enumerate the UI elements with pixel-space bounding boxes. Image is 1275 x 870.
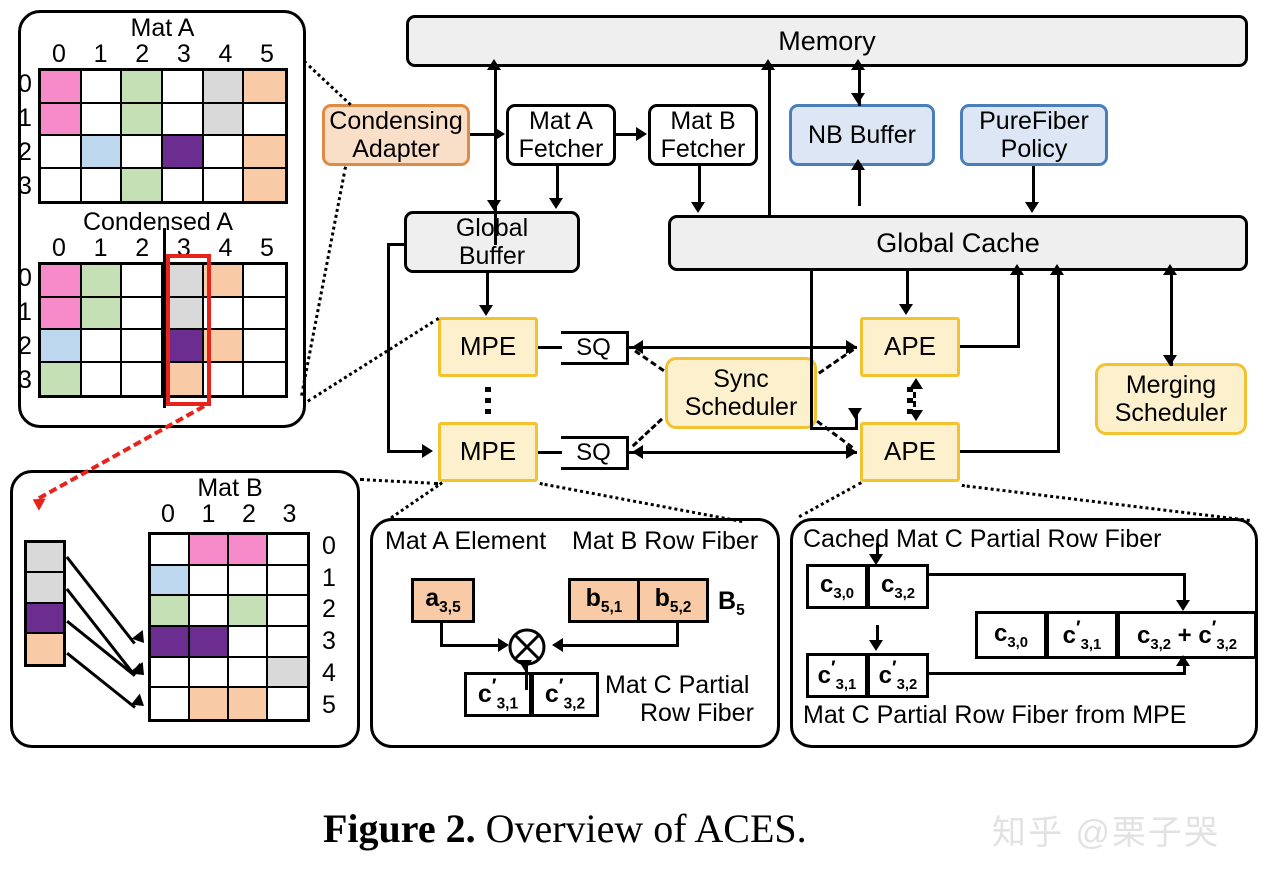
connector-line bbox=[440, 644, 502, 647]
matrix-cell bbox=[244, 71, 285, 104]
axis-label: 4 bbox=[318, 659, 340, 688]
ape-bottom-label: APE bbox=[884, 437, 936, 466]
arrow-head bbox=[487, 200, 501, 211]
axis-label: 3 bbox=[174, 40, 194, 69]
axis-label: 2 bbox=[318, 595, 340, 624]
sq-bottom-block[interactable]: SQ bbox=[561, 436, 629, 470]
matrix-cell bbox=[41, 71, 82, 104]
ape-top-block[interactable]: APE bbox=[860, 317, 960, 377]
arrow-head bbox=[851, 159, 865, 170]
purefiber-policy-block[interactable]: PureFiber Policy bbox=[960, 104, 1108, 166]
mpe-top-label: MPE bbox=[460, 332, 516, 361]
matrix-cell bbox=[163, 169, 204, 202]
axis-label: 1 bbox=[14, 298, 36, 327]
connector-line bbox=[960, 450, 1060, 453]
axis-label: 5 bbox=[257, 40, 277, 69]
connector-line bbox=[360, 478, 438, 485]
axis-label: 3 bbox=[14, 172, 36, 201]
connector-line bbox=[539, 482, 742, 523]
connector-line bbox=[1170, 271, 1173, 366]
connector-line bbox=[632, 418, 663, 447]
vector-fiber-cell bbox=[27, 543, 63, 573]
matrix-cell bbox=[122, 169, 163, 202]
matrix-cell bbox=[163, 136, 204, 169]
mat-b-grid bbox=[148, 532, 310, 722]
connector-line bbox=[494, 70, 497, 245]
matrix-cell bbox=[268, 658, 307, 689]
matrix-cell bbox=[151, 596, 190, 627]
mpe-bottom-block[interactable]: MPE bbox=[438, 422, 538, 482]
axis-label: 4 bbox=[215, 40, 235, 69]
mat-a-fetcher-label-1: Mat A bbox=[529, 107, 593, 135]
connector-line bbox=[629, 451, 857, 454]
matrix-cell bbox=[41, 104, 82, 137]
connector-line bbox=[698, 166, 701, 206]
connector-line bbox=[799, 481, 862, 518]
axis-label: 2 bbox=[14, 332, 36, 361]
axis-label: 2 bbox=[132, 40, 152, 69]
matrix-cell bbox=[244, 363, 285, 396]
axis-label: 1 bbox=[199, 500, 219, 529]
nb-buffer-block[interactable]: NB Buffer bbox=[789, 104, 935, 166]
arrow-head bbox=[851, 93, 865, 104]
matrix-cell bbox=[204, 104, 245, 137]
connector-line bbox=[818, 348, 855, 374]
connector-line bbox=[616, 133, 637, 136]
ape-top-label: APE bbox=[884, 332, 936, 361]
global-buffer-label-1: Global bbox=[456, 214, 528, 242]
global-buffer-block[interactable]: Global Buffer bbox=[404, 211, 580, 273]
matrix-cell bbox=[82, 136, 123, 169]
arrow-head bbox=[479, 305, 493, 316]
matrix-cell bbox=[41, 169, 82, 202]
connector-line bbox=[538, 346, 562, 349]
arrow-head bbox=[1176, 655, 1190, 666]
connector-line bbox=[529, 672, 532, 717]
sq-top-label: SQ bbox=[576, 334, 611, 362]
matrix-cell bbox=[244, 298, 285, 331]
connector-line bbox=[906, 271, 909, 307]
matrix-cell bbox=[204, 169, 245, 202]
mat-b-fetcher-label-2: Fetcher bbox=[661, 135, 746, 163]
sync-scheduler-label-1: Sync bbox=[713, 365, 769, 393]
ape-bottom-block[interactable]: APE bbox=[860, 422, 960, 482]
result-fiber-cell-1: c′3,1 bbox=[1046, 611, 1118, 659]
matrix-cell bbox=[190, 566, 229, 597]
arrow-head bbox=[909, 410, 923, 421]
matrix-cell bbox=[122, 265, 163, 298]
connector-line bbox=[300, 166, 347, 396]
matrix-cell bbox=[229, 658, 268, 689]
merging-scheduler-label-1: Merging bbox=[1126, 371, 1216, 399]
mat-c-partial-cell-1: c′3,2 bbox=[531, 672, 599, 717]
matrix-cell bbox=[122, 363, 163, 396]
mat-b-fiber-cell-0: b5,1 bbox=[568, 578, 640, 623]
connector-line bbox=[816, 420, 853, 448]
mat-a-fetcher-block[interactable]: Mat A Fetcher bbox=[506, 104, 616, 166]
sync-scheduler-label-2: Scheduler bbox=[685, 393, 798, 421]
axis-label: 0 bbox=[14, 264, 36, 293]
connector-line bbox=[1017, 271, 1020, 348]
arrow-head bbox=[549, 198, 563, 209]
mat-a-title: Mat A bbox=[40, 14, 285, 43]
memory-label: Memory bbox=[778, 26, 876, 56]
matrix-cell bbox=[190, 658, 229, 689]
matrix-cell bbox=[41, 265, 82, 298]
mat-a-fetcher-label-2: Fetcher bbox=[519, 135, 604, 163]
mpe-fiber-cell-0: c′3,1 bbox=[806, 653, 868, 698]
connector-line bbox=[307, 317, 440, 403]
matrix-cell bbox=[163, 104, 204, 137]
matrix-cell bbox=[151, 566, 190, 597]
matrix-cell bbox=[82, 265, 123, 298]
axis-label: 3 bbox=[14, 366, 36, 395]
connector-line bbox=[303, 60, 352, 106]
matrix-cell bbox=[268, 596, 307, 627]
axis-label: 2 bbox=[239, 500, 259, 529]
mat-a-element-cell: a3,5 bbox=[411, 578, 475, 623]
condensing-adapter-label-2: Adapter bbox=[352, 135, 440, 163]
matrix-cell bbox=[122, 104, 163, 137]
connector-line bbox=[390, 482, 443, 519]
sync-scheduler-block[interactable]: Sync Scheduler bbox=[665, 357, 817, 429]
matrix-cell bbox=[41, 298, 82, 331]
matrix-cell bbox=[82, 363, 123, 396]
matrix-cell bbox=[244, 169, 285, 202]
cached-fiber-cell-0: c3,0 bbox=[806, 564, 868, 609]
axis-label: 0 bbox=[158, 500, 178, 529]
axis-label: 0 bbox=[49, 234, 69, 263]
arrow-head bbox=[869, 640, 883, 651]
axis-label: 4 bbox=[215, 234, 235, 263]
mpe-ellipsis bbox=[485, 387, 491, 415]
cached-fiber-cell-1: c3,2 bbox=[867, 564, 929, 609]
connector-line bbox=[929, 672, 1186, 675]
matrix-cell bbox=[190, 535, 229, 566]
connector-line bbox=[929, 573, 1186, 576]
matrix-cell bbox=[268, 627, 307, 658]
connector-line bbox=[470, 133, 496, 136]
arrow-head bbox=[552, 638, 563, 652]
axis-label: 0 bbox=[49, 40, 69, 69]
connector-line bbox=[1183, 573, 1186, 603]
matrix-cell bbox=[229, 535, 268, 566]
mat-b-fiber-cell-1: b5,2 bbox=[637, 578, 709, 623]
mat-b-title: Mat B bbox=[140, 474, 320, 503]
arrow-head bbox=[1025, 202, 1039, 213]
arrow-head bbox=[487, 59, 501, 70]
arrow-head bbox=[1010, 264, 1024, 275]
condensed-a-highlight-box bbox=[166, 254, 211, 406]
arrow-head bbox=[851, 59, 865, 70]
matrix-cell bbox=[41, 363, 82, 396]
vector-fiber-cell bbox=[27, 634, 63, 664]
merging-scheduler-label-2: Scheduler bbox=[1115, 399, 1228, 427]
condensed-a-title: Condensed A bbox=[28, 208, 288, 237]
mpe-detail-label-b: Mat B Row Fiber bbox=[572, 528, 758, 556]
matrix-cell bbox=[244, 104, 285, 137]
figure-caption-rest: Overview of ACES. bbox=[476, 806, 807, 851]
connector-line bbox=[858, 166, 861, 206]
axis-label: 5 bbox=[318, 691, 340, 720]
condensing-adapter-label-1: Condensing bbox=[329, 107, 462, 135]
connector-line bbox=[1057, 271, 1060, 453]
matrix-cell bbox=[229, 566, 268, 597]
matrix-cell bbox=[151, 627, 190, 658]
arrow-head bbox=[1176, 600, 1190, 611]
matrix-cell bbox=[268, 566, 307, 597]
connector-line bbox=[810, 427, 858, 430]
matrix-cell bbox=[244, 330, 285, 363]
axis-label: 0 bbox=[14, 70, 36, 99]
axis-label: 1 bbox=[318, 564, 340, 593]
mat-b-fiber-group-label: B5 bbox=[718, 588, 745, 619]
mpe-top-block[interactable]: MPE bbox=[438, 317, 538, 377]
matrix-cell bbox=[268, 535, 307, 566]
matrix-cell bbox=[190, 688, 229, 719]
axis-label: 1 bbox=[91, 234, 111, 263]
arrow-head bbox=[1163, 264, 1177, 275]
matrix-cell bbox=[151, 688, 190, 719]
merging-scheduler-block[interactable]: Merging Scheduler bbox=[1095, 363, 1247, 435]
axis-label: 3 bbox=[318, 627, 340, 656]
global-buffer-label-2: Buffer bbox=[459, 242, 525, 270]
matrix-cell bbox=[244, 136, 285, 169]
matrix-cell bbox=[190, 627, 229, 658]
axis-label: 2 bbox=[14, 138, 36, 167]
ape-detail-label-bottom: Mat C Partial Row Fiber from MPE bbox=[803, 702, 1186, 730]
connector-line bbox=[629, 346, 857, 349]
arrow-head bbox=[761, 59, 775, 70]
matrix-cell bbox=[163, 71, 204, 104]
mpe-detail-label-c-1: Mat C Partial bbox=[605, 672, 749, 700]
matrix-cell bbox=[122, 136, 163, 169]
figure-caption: Figure 2. Overview of ACES. bbox=[323, 805, 807, 852]
result-fiber-cell-2: c3,2 + c′3,2 bbox=[1117, 611, 1257, 659]
matrix-cell bbox=[122, 298, 163, 331]
arrow-head bbox=[899, 304, 913, 315]
mpe-detail-label-a: Mat A Element bbox=[385, 528, 546, 556]
purefiber-policy-label-2: Policy bbox=[1001, 135, 1068, 163]
vector-fiber-cell bbox=[27, 573, 63, 603]
connector-line bbox=[960, 345, 1020, 348]
nb-buffer-label: NB Buffer bbox=[808, 121, 916, 149]
mpe-fiber-cell-1: c′3,2 bbox=[867, 653, 929, 698]
arrow-head bbox=[498, 638, 509, 652]
connector-line bbox=[556, 166, 559, 202]
connector-line bbox=[962, 484, 1250, 522]
arrow-head bbox=[518, 660, 532, 671]
figure-caption-bold: Figure 2. bbox=[323, 806, 476, 851]
matrix-cell bbox=[204, 71, 245, 104]
arrow-head bbox=[1050, 264, 1064, 275]
axis-label: 2 bbox=[132, 234, 152, 263]
sq-bottom-label: SQ bbox=[576, 439, 611, 467]
connector-line bbox=[556, 644, 678, 647]
axis-label: 1 bbox=[91, 40, 111, 69]
matrix-cell bbox=[229, 627, 268, 658]
watermark: 知乎 @栗子哭 bbox=[992, 805, 1220, 854]
matrix-cell bbox=[190, 596, 229, 627]
matrix-cell bbox=[41, 136, 82, 169]
axis-label: 3 bbox=[280, 500, 300, 529]
matrix-cell bbox=[82, 169, 123, 202]
sq-top-block[interactable]: SQ bbox=[561, 331, 629, 365]
connector-line bbox=[538, 451, 562, 454]
mat-b-fetcher-block[interactable]: Mat B Fetcher bbox=[648, 104, 758, 166]
mpe-detail-label-c-2: Row Fiber bbox=[640, 700, 754, 728]
global-cache-label: Global Cache bbox=[876, 228, 1040, 258]
axis-label: 1 bbox=[14, 104, 36, 133]
mat-b-fetcher-label-1: Mat B bbox=[670, 107, 735, 135]
arrow-head bbox=[1163, 355, 1177, 366]
matrix-cell bbox=[268, 688, 307, 719]
arrow-head bbox=[909, 378, 923, 389]
matrix-cell bbox=[82, 104, 123, 137]
arrow-head bbox=[636, 127, 647, 141]
matrix-cell bbox=[204, 136, 245, 169]
axis-label: 0 bbox=[318, 532, 340, 561]
memory-block[interactable]: Memory bbox=[406, 15, 1248, 67]
matrix-cell bbox=[122, 330, 163, 363]
mpe-bottom-label: MPE bbox=[460, 437, 516, 466]
purefiber-policy-label-1: PureFiber bbox=[979, 107, 1089, 135]
matrix-cell bbox=[229, 688, 268, 719]
connector-line bbox=[810, 271, 813, 427]
arrow-head bbox=[691, 202, 705, 213]
mat-c-partial-cell-0: c′3,1 bbox=[464, 672, 532, 717]
global-cache-block[interactable]: Global Cache bbox=[668, 215, 1248, 271]
matrix-cell bbox=[82, 71, 123, 104]
ape-detail-label-top: Cached Mat C Partial Row Fiber bbox=[803, 526, 1161, 554]
connector-line bbox=[387, 450, 427, 453]
arrow-head bbox=[422, 444, 433, 458]
matrix-cell bbox=[122, 71, 163, 104]
condensing-adapter-block[interactable]: Condensing Adapter bbox=[322, 104, 470, 166]
matrix-cell bbox=[151, 658, 190, 689]
mat-b-vector-fiber bbox=[24, 540, 66, 667]
matrix-cell bbox=[41, 330, 82, 363]
vector-fiber-cell bbox=[27, 604, 63, 634]
connector-line bbox=[768, 70, 771, 216]
matrix-cell bbox=[82, 298, 123, 331]
result-fiber-cell-0: c3,0 bbox=[975, 611, 1047, 659]
connector-line bbox=[634, 350, 665, 372]
mat-a-grid bbox=[38, 68, 288, 204]
arrow-head bbox=[848, 408, 862, 419]
axis-label: 5 bbox=[257, 234, 277, 263]
matrix-cell bbox=[244, 265, 285, 298]
matrix-cell bbox=[151, 535, 190, 566]
matrix-cell bbox=[229, 596, 268, 627]
connector-line bbox=[486, 273, 489, 307]
arrow-head bbox=[869, 554, 883, 565]
matrix-cell bbox=[82, 330, 123, 363]
